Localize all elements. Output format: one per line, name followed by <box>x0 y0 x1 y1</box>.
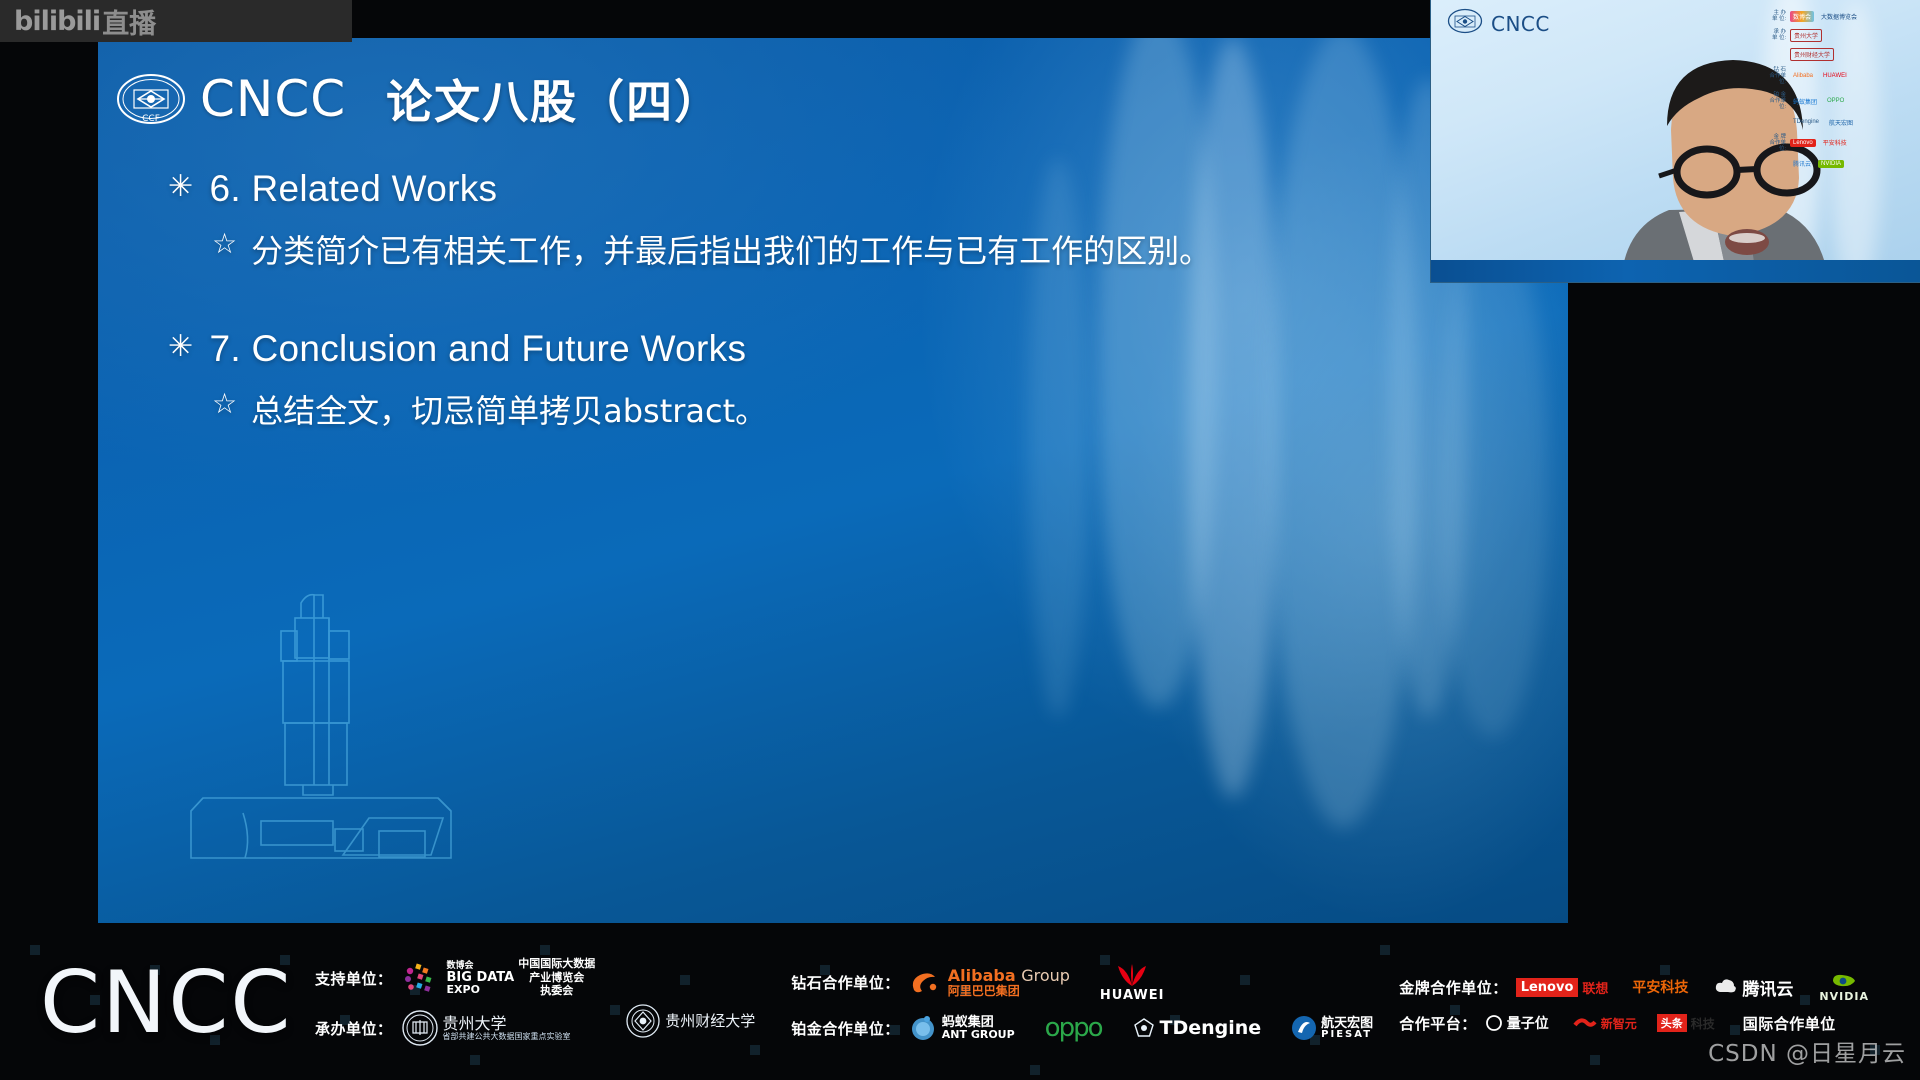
bigdata-expo-logo: 数博会 <box>1790 11 1814 22</box>
tencent-cloud-logo: 腾讯云 <box>1714 975 1793 1000</box>
banner-row: 钻石合作单位： Alibaba Group 阿里巴巴集团 <box>791 962 1373 1003</box>
webcam-sponsor-row: 承 办单 位: 贵州大学 <box>1764 29 1914 42</box>
csdn-watermark: CSDN @日星月云 <box>1708 1034 1906 1068</box>
banner-row-spacer <box>625 953 755 993</box>
sponsor-banner: CNCC 支持单位： <box>0 925 1920 1080</box>
banner-row: 铂金合作单位： 蚂蚁集团 ANT GROUP oppo <box>791 1013 1373 1043</box>
guizhou-university-logo: 贵州大学 省部共建公共大数据国家重点实验室 <box>401 1009 571 1047</box>
webcam-sponsor-label: 主 办单 位: <box>1764 10 1786 23</box>
banner-row: 金牌合作单位： Lenovo 联想 平安科技 腾讯云 <box>1399 972 1869 1003</box>
aiera-logo: 新智元 <box>1573 1015 1637 1032</box>
webcam-overlay[interactable]: CNCC 主 办单 位: 数博会 大数据博览会 承 办单 位: 贵州大 <box>1430 0 1920 283</box>
bilibili-watermark: bilibili 直播 <box>0 0 352 42</box>
oppo-logo: OPPO <box>1824 97 1847 105</box>
banner-row: 贵州财经大学 <box>625 1003 755 1039</box>
webcam-sponsor-label: 铂 金合作单位: <box>1764 92 1786 111</box>
bilibili-logo: bilibili <box>14 6 100 37</box>
ant-group-logo: 蚂蚁集团 <box>1790 96 1820 107</box>
international-partner-label: 国际合作单位 <box>1743 1013 1836 1034</box>
diamond-partner-label: 钻石合作单位： <box>791 972 900 993</box>
tdengine-logo: TDengine <box>1132 1016 1262 1040</box>
ccf-emblem-icon <box>1447 8 1483 40</box>
qbitai-logo: 量子位 <box>1485 1013 1549 1033</box>
ccf-emblem-icon: CCF <box>116 73 186 125</box>
support-unit-label: 支持单位： <box>315 968 393 989</box>
banner-cncc-logo: CNCC <box>40 953 305 1053</box>
webcam-sponsor-row: 金 牌合作单位: Lenovo 平安科技 <box>1764 134 1914 153</box>
slide-body: ✳ 6. Related Works ☆ 分类简介已有相关工作，并最后指出我们的… <box>168 168 1528 488</box>
bullet-level2: ☆ 分类简介已有相关工作，并最后指出我们的工作与已有工作的区别。 <box>212 226 1528 272</box>
snowflake-bullet-icon: ✳ <box>168 168 193 206</box>
nvidia-logo: NVIDIA <box>1819 972 1869 1003</box>
guizhou-university-logo: 贵州大学 <box>1790 29 1822 42</box>
cncc-wordmark: CNCC <box>200 70 346 128</box>
piesat-logo: 航天宏图 PIESAT <box>1291 1015 1373 1041</box>
alibaba-logo: Alibaba <box>1790 72 1816 80</box>
bilibili-live-label: 直播 <box>102 2 156 41</box>
section-subtext: 分类简介已有相关工作，并最后指出我们的工作与已有工作的区别。 <box>251 226 1211 272</box>
bullet-level1: ✳ 7. Conclusion and Future Works <box>168 328 1528 370</box>
tencent-cloud-logo: 腾讯云 <box>1790 158 1814 169</box>
banner-column-organizers: 支持单位： 数博会 <box>315 958 595 1047</box>
cooperation-platform-label: 合作平台： <box>1399 1013 1477 1034</box>
pingan-tech-logo: 平安科技 <box>1632 977 1688 997</box>
webcam-sponsor-row: 腾讯云 NVIDIA <box>1764 158 1914 169</box>
ant-group-logo: 蚂蚁集团 ANT GROUP <box>908 1013 1015 1043</box>
star-bullet-icon: ☆ <box>212 226 237 261</box>
bullet-level1: ✳ 6. Related Works <box>168 168 1528 210</box>
toutiao-logo: 头条 科技 <box>1657 1014 1715 1032</box>
star-bullet-icon: ☆ <box>212 386 237 421</box>
webcam-sponsor-label: 钻 石合作单位: <box>1764 67 1786 86</box>
lenovo-logo: Lenovo <box>1790 139 1816 147</box>
presentation-slide: CCF CNCC 论文八股（四） ✳ 6. Related Works ☆ 分类… <box>98 38 1568 923</box>
webcam-sponsor-row: 主 办单 位: 数博会 大数据博览会 <box>1764 10 1914 23</box>
webcam-cncc-text: CNCC <box>1491 12 1550 36</box>
slide-section: ✳ 7. Conclusion and Future Works ☆ 总结全文，… <box>168 328 1528 432</box>
bigdata-expo-logo: 数博会 BIG DATA EXPO 中国国际大数据产业博览会执委会 <box>401 958 596 999</box>
nvidia-logo: NVIDIA <box>1818 160 1844 168</box>
section-heading: 7. Conclusion and Future Works <box>209 328 746 370</box>
bullet-level2: ☆ 总结全文，切忌简单拷贝abstract。 <box>212 386 1528 432</box>
webcam-sponsor-label: 金 牌合作单位: <box>1764 134 1786 153</box>
webcam-sponsor-row: TDengine 航天宏图 <box>1764 117 1914 128</box>
webcam-sponsor-row: 贵州财经大学 <box>1764 48 1914 61</box>
webcam-sponsor-label: 承 办单 位: <box>1764 29 1786 42</box>
lenovo-logo: Lenovo 联想 <box>1516 978 1609 997</box>
snowflake-bullet-icon: ✳ <box>168 328 193 366</box>
webcam-sponsor-row: 钻 石合作单位: Alibaba HUAWEI <box>1764 67 1914 86</box>
banner-row: 承办单位： 贵州大学 省部共建公共大数据国家重点实验室 <box>315 1009 595 1047</box>
banner-column-gold: 金牌合作单位： Lenovo 联想 平安科技 腾讯云 <box>1399 972 1869 1034</box>
piesat-logo: 航天宏图 <box>1826 117 1856 128</box>
svg-text:CCF: CCF <box>142 114 160 124</box>
slide-title: 论文八股（四） <box>386 66 722 132</box>
pingan-tech-logo: 平安科技 <box>1820 137 1850 148</box>
guizhou-finance-university-logo: 贵州财经大学 <box>625 1003 755 1039</box>
expo-committee-logo: 大数据博览会 <box>1818 11 1860 22</box>
section-heading: 6. Related Works <box>209 168 497 210</box>
huawei-logo: HUAWEI <box>1100 962 1165 1003</box>
huawei-logo: HUAWEI <box>1820 72 1850 80</box>
stream-stage: bilibili 直播 CCF CNCC 论文八 <box>0 0 1920 1080</box>
banner-row: 合作平台： 量子位 新智元 头条 科技 国际合作单位 <box>1399 1013 1869 1034</box>
webcam-cncc-brand: CNCC <box>1447 8 1550 40</box>
slide-section: ✳ 6. Related Works ☆ 分类简介已有相关工作，并最后指出我们的… <box>168 168 1528 272</box>
webcam-bottom-bar <box>1431 260 1920 282</box>
gold-partner-label: 金牌合作单位： <box>1399 977 1508 998</box>
alibaba-logo: Alibaba Group 阿里巴巴集团 <box>908 968 1070 998</box>
webcam-sponsor-column: 主 办单 位: 数博会 大数据博览会 承 办单 位: 贵州大学 贵州财经大学 钻… <box>1764 10 1914 175</box>
banner-column-cohost: 贵州财经大学 <box>625 953 755 1053</box>
banner-row: 支持单位： 数博会 <box>315 958 595 999</box>
tdengine-logo: TDengine <box>1790 118 1822 126</box>
section-subtext: 总结全文，切忌简单拷贝abstract。 <box>251 386 767 432</box>
monument-line-art <box>183 573 483 863</box>
banner-column-partners: 钻石合作单位： Alibaba Group 阿里巴巴集团 <box>791 962 1373 1043</box>
slide-header: CCF CNCC 论文八股（四） <box>116 66 722 132</box>
oppo-logo: oppo <box>1045 1013 1102 1043</box>
platinum-partner-label: 铂金合作单位： <box>791 1018 900 1039</box>
webcam-sponsor-row: 铂 金合作单位: 蚂蚁集团 OPPO <box>1764 92 1914 111</box>
host-unit-label: 承办单位： <box>315 1018 393 1039</box>
guizhou-finance-university-logo: 贵州财经大学 <box>1790 48 1834 61</box>
